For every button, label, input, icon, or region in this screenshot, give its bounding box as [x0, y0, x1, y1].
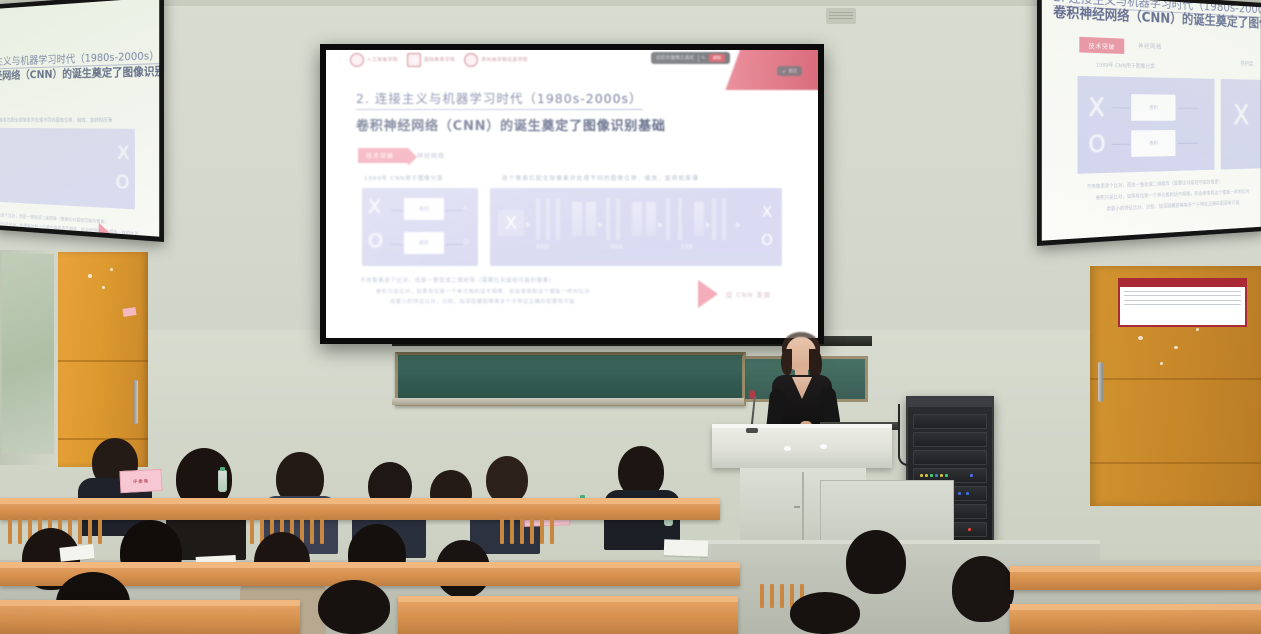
panel-b-output-x: X — [762, 203, 772, 221]
slide-title-line2: 卷积神经网络（CNN）的诞生奠定了图像识别基础 — [356, 115, 666, 134]
logo-item: 国际教育学院 — [407, 53, 455, 67]
slide-header: 人工智能学院 国际教育学院 贵州商学院信息学院 幻灯片放映工具栏 ✎ 录制 ✐ … — [326, 50, 818, 72]
ribbon-badge: 技术突破 — [358, 148, 408, 163]
bullet-2: 用更小的特征比对，识别、加深隐藏层等等多个子特征正确匹配更有可能 — [390, 298, 690, 305]
panel-a-conv-box-top: 卷积 — [404, 198, 444, 220]
panel-b-output-group: X O — [756, 198, 778, 254]
slide-title-block: 2. 连接主义与机器学习时代（1980s-2000s） 卷积神经网络（CNN）的… — [356, 88, 666, 134]
toolbar-divider — [698, 55, 699, 62]
left-door-glass — [2, 254, 54, 454]
audience-head — [486, 456, 528, 504]
desk-row — [1010, 566, 1261, 590]
desk-row — [398, 596, 738, 634]
panel-b-stage1-label: 卷积层 — [536, 244, 549, 250]
slide-logo-group: 人工智能学院 国际教育学院 贵州商学院信息学院 — [350, 53, 528, 67]
bullet-lead: 不用像素逐个比对，而是一整张或二维矩阵（需要比对最短可能的像素） — [360, 276, 690, 284]
university-seal-icon — [464, 53, 478, 67]
presentation-slide: 人工智能学院 国际教育学院 贵州商学院信息学院 幻灯片放映工具栏 ✎ 录制 ✐ … — [326, 50, 818, 338]
panel-a-output-o: O — [463, 238, 469, 246]
right-door-handle[interactable] — [1098, 362, 1103, 402]
slide-bullet-block: 不用像素逐个比对，而是一整张或二维矩阵（需要比对最短可能的像素） 卷积只是比对，… — [360, 276, 690, 305]
audience-head — [846, 530, 906, 594]
toolbar-label: 幻灯片放映工具栏 — [656, 55, 694, 61]
slide-title-line1: 2. 连接主义与机器学习时代（1980s-2000s） — [356, 88, 643, 110]
rack-cable — [898, 404, 912, 466]
logo-label: 贵州商学院信息学院 — [481, 57, 528, 63]
logo-item: 贵州商学院信息学院 — [464, 53, 528, 67]
podium-desktop — [712, 424, 892, 468]
panel-a-conv-box-bottom-label: 卷积 — [404, 240, 444, 247]
diagram-panel-b: X — [490, 188, 782, 266]
microphone-icon — [749, 390, 755, 399]
slideshow-toolbar[interactable]: 幻灯片放映工具栏 ✎ 录制 — [651, 52, 730, 64]
diagram-panel-a: X O 卷积 卷积 X O — [362, 188, 478, 266]
air-vent — [826, 8, 856, 24]
left-door-handle[interactable] — [133, 380, 138, 424]
slideshow-toolbar-secondary[interactable]: ✐ 批注 — [777, 66, 802, 76]
right-secondary-display: 2. 连接主义与机器学习时代（1980s-2000s） 卷积神经网络（CNN）的… — [1037, 0, 1261, 246]
pen-icon[interactable]: ✎ — [702, 55, 706, 61]
water-bottle — [218, 470, 227, 492]
classroom-scene: 2. 连接主义与机器学习时代（1980s-2000s） 卷积神经网络（CNN）的… — [0, 0, 1261, 634]
presenter — [770, 337, 834, 433]
record-button[interactable]: 录制 — [709, 54, 725, 62]
left-secondary-display: 2. 连接主义与机器学习时代（1980s-2000s） 卷积神经网络（CNN）的… — [0, 0, 164, 242]
desk-row — [0, 600, 300, 634]
name-card: 评委席 — [119, 469, 162, 493]
microphone-base — [746, 428, 758, 433]
arrow-label: 促 CNN 发展 — [726, 290, 771, 299]
university-seal-icon — [407, 53, 421, 67]
audience-head — [952, 556, 1014, 622]
door-left[interactable] — [58, 252, 148, 467]
left-door-sticker — [123, 307, 137, 317]
annotate-icon[interactable]: ✐ — [782, 69, 786, 74]
logo-label: 国际教育学院 — [424, 57, 455, 63]
projection-screen: 人工智能学院 国际教育学院 贵州商学院信息学院 幻灯片放映工具栏 ✎ 录制 ✐ … — [320, 44, 824, 344]
desk-row — [0, 498, 720, 520]
desk-slats — [500, 518, 554, 544]
audience-head — [790, 592, 860, 634]
slide-badge-row: 技术突破 神经网络 — [358, 148, 445, 163]
panel-b-stage3-label: 全连接 — [680, 244, 693, 250]
chalkboard-bottom-rail — [392, 398, 744, 405]
name-card-text: 评委席 — [133, 477, 150, 484]
bullet-1: 卷积只是比对，如果有位移一个单元格的话不相等，就会使用和这个模板一样的比对 — [376, 288, 690, 295]
panel-a-input-o: O — [368, 232, 383, 251]
badge-subtitle: 神经网络 — [417, 151, 445, 160]
door-right[interactable] — [1090, 266, 1261, 506]
handout-paper — [664, 539, 709, 557]
caption-right: 逐个像素匹配全部像素并处理不同的图像位移、缩放、旋转和厚薄 — [502, 174, 699, 182]
panel-a-conv-box-top-label: 卷积 — [404, 206, 444, 213]
panel-a-conv-box-bottom: 卷积 — [404, 232, 444, 254]
logo-label: 人工智能学院 — [367, 57, 398, 63]
panel-a-output-x: X — [463, 204, 468, 212]
university-seal-icon — [350, 53, 364, 67]
logo-item: 人工智能学院 — [350, 53, 398, 67]
door-right-poster — [1118, 278, 1247, 327]
pink-arrow-icon — [698, 280, 718, 308]
audience-head — [318, 580, 390, 634]
panel-b-stage2-label: 池化层 — [610, 244, 623, 250]
presenter-hair-left — [781, 349, 792, 375]
panel-b-input-x: X — [498, 210, 524, 236]
panel-b-output-o: O — [761, 231, 773, 249]
desk-row — [1010, 604, 1261, 634]
toolbar-secondary-label: 批注 — [789, 68, 797, 74]
panel-a-input-x: X — [368, 198, 381, 217]
caption-left: 1989年 CNN用于图像分类 — [364, 174, 443, 182]
